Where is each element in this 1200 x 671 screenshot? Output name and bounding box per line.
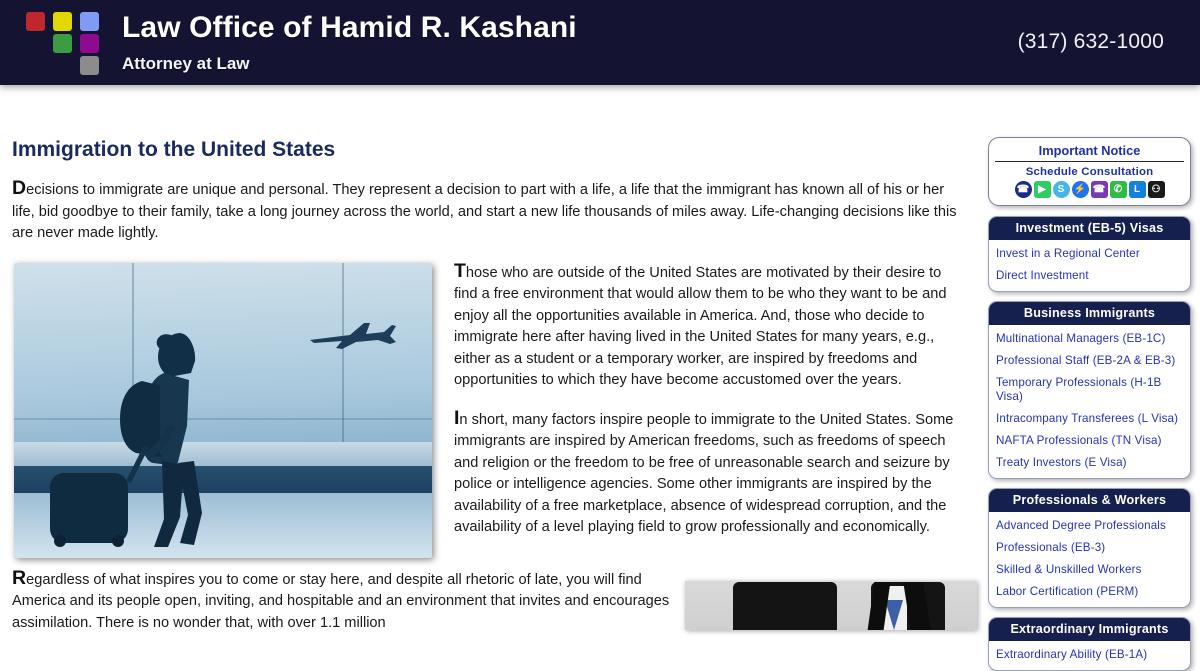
sidebar-link[interactable]: Advanced Degree Professionals (989, 515, 1190, 537)
traveler-silhouette (44, 333, 274, 548)
viber-icon[interactable]: ☎ (1091, 181, 1108, 198)
paragraph-1: Decisions to immigrate are unique and pe… (12, 178, 963, 245)
logo-square-purple (80, 34, 99, 53)
notice-title: Important Notice (995, 143, 1184, 162)
sidebar-link[interactable]: Temporary Professionals (H-1B Visa) (989, 372, 1190, 408)
sidebar-panel-heading: Business Immigrants (989, 302, 1190, 325)
facebook-messenger-icon[interactable]: ⚡ (1072, 181, 1089, 198)
logo-square-blue (80, 12, 99, 31)
paragraph-4: Regardless of what inspires you to come … (12, 568, 687, 635)
sidebar-panel-heading: Investment (EB-5) Visas (989, 217, 1190, 240)
suit-left (733, 582, 837, 630)
paragraph-2: Those who are outside of the United Stat… (454, 261, 963, 392)
sidebar-panel-links: Extraordinary Ability (EB-1A) (989, 641, 1190, 670)
sidebar-link[interactable]: Extraordinary Ability (EB-1A) (989, 644, 1190, 666)
logo-square-gray (80, 56, 99, 75)
signal-icon[interactable]: ⚇ (1148, 181, 1165, 198)
sidebar-link[interactable]: Labor Certification (PERM) (989, 581, 1190, 603)
sidebar-link[interactable]: Multinational Managers (EB-1C) (989, 328, 1190, 350)
sidebar-panel: Professionals & WorkersAdvanced Degree P… (988, 488, 1191, 608)
sidebar-panel: Investment (EB-5) VisasInvest in a Regio… (988, 216, 1191, 292)
site-subtitle: Attorney at Law (122, 52, 577, 76)
sidebar-link[interactable]: NAFTA Professionals (TN Visa) (989, 430, 1190, 452)
suits-photo (685, 581, 977, 630)
skype-icon[interactable]: S (1053, 181, 1070, 198)
sidebar-panel: Extraordinary ImmigrantsExtraordinary Ab… (988, 617, 1191, 671)
site-title: Law Office of Hamid R. Kashani (122, 10, 577, 46)
line-icon[interactable]: L (1129, 181, 1146, 198)
sidebar-panel-links: Multinational Managers (EB-1C)Profession… (989, 325, 1190, 478)
header-title-block: Law Office of Hamid R. Kashani Attorney … (122, 10, 577, 76)
whatsapp-icon[interactable]: ✆ (1110, 181, 1127, 198)
traveler-photo (14, 263, 432, 558)
sidebar-link[interactable]: Direct Investment (989, 265, 1190, 287)
sidebar-panel: Business ImmigrantsMultinational Manager… (988, 301, 1191, 479)
dropcap-2: T (454, 260, 466, 282)
page-body: Immigration to the United States Decisio… (0, 85, 1200, 630)
site-header: Law Office of Hamid R. Kashani Attorney … (0, 0, 1200, 85)
logo-square-yellow (53, 12, 72, 31)
paragraph-3-text: n short, many factors inspire people to … (454, 412, 953, 536)
paragraph-1-text: ecisions to immigrate are unique and per… (12, 182, 957, 241)
schedule-consultation-label[interactable]: Schedule Consultation (995, 162, 1184, 181)
video-call-icon[interactable]: ▶ (1034, 181, 1051, 198)
dropcap-4: R (12, 567, 26, 589)
logo-icon (26, 12, 104, 74)
sidebar-panel-links: Invest in a Regional CenterDirect Invest… (989, 240, 1190, 291)
page-title: Immigration to the United States (12, 138, 963, 162)
sidebar-panel-heading: Professionals & Workers (989, 489, 1190, 512)
sidebar-link[interactable]: Skilled & Unskilled Workers (989, 559, 1190, 581)
sidebar-link[interactable]: Invest in a Regional Center (989, 243, 1190, 265)
paragraph-3: In short, many factors inspire people to… (454, 408, 963, 539)
sidebar-panel-links: Advanced Degree ProfessionalsProfessiona… (989, 512, 1190, 607)
dropcap-1: D (12, 177, 26, 199)
sidebar-link[interactable]: Treaty Investors (E Visa) (989, 452, 1190, 474)
sidebar: Important Notice Schedule Consultation ☎… (988, 85, 1193, 630)
paragraph-4-text: egardless of what inspires you to come o… (12, 572, 669, 631)
logo-square-red (26, 12, 45, 31)
sidebar-link[interactable]: Intracompany Transferees (L Visa) (989, 408, 1190, 430)
sidebar-link[interactable]: Professionals (EB-3) (989, 537, 1190, 559)
header-phone-number[interactable]: (317) 632-1000 (1018, 30, 1164, 54)
phone-icon[interactable]: ☎ (1015, 181, 1032, 198)
sidebar-sections: Investment (EB-5) VisasInvest in a Regio… (988, 216, 1193, 671)
airplane-icon (306, 318, 398, 352)
paragraph-2-text: hose who are outside of the United State… (454, 265, 946, 389)
sidebar-link[interactable]: Professional Staff (EB-2A & EB-3) (989, 350, 1190, 372)
necktie-icon (885, 600, 903, 630)
main-content-column: Immigration to the United States Decisio… (0, 85, 975, 630)
important-notice-panel: Important Notice Schedule Consultation ☎… (988, 137, 1191, 206)
messaging-icon-row: ☎▶S⚡☎✆L⚇ (995, 181, 1184, 199)
logo-square-green (53, 34, 72, 53)
